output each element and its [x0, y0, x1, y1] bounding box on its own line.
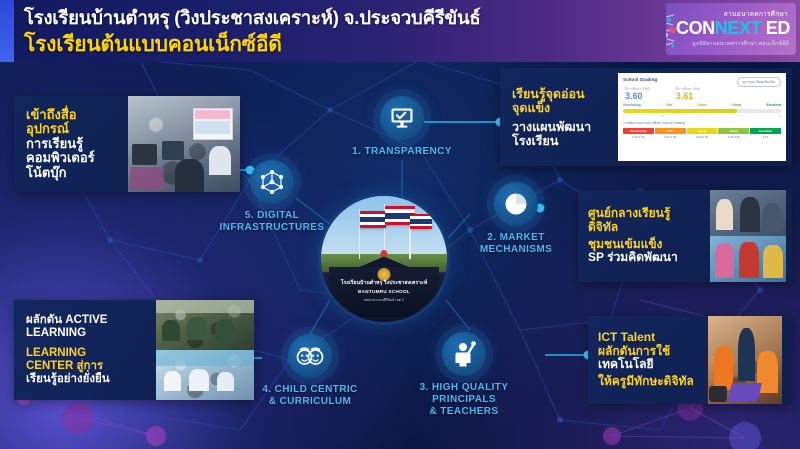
legend-range: 5.00 — [750, 135, 781, 139]
school-grading-dashboard[interactable]: School Grading ดูรายละเอียดเพิ่มเติม ปีก… — [618, 73, 786, 161]
node-bubble[interactable] — [288, 334, 332, 378]
legend-range: 4.00-4.99 — [718, 135, 749, 139]
dashboard-ticks: 1 2 3 4 5 — [623, 114, 781, 118]
node-bubble[interactable] — [250, 160, 294, 204]
card-line-part: ผลักดัน ACTIVE — [26, 314, 107, 326]
scale-label: Good — [698, 103, 707, 107]
card-line: CENTER สู่การ — [26, 360, 148, 373]
dashboard-progress-track — [623, 109, 781, 113]
scale-label: Developing — [623, 103, 641, 107]
legend-range: 3.00-3.99 — [687, 135, 718, 139]
node-label-line: 2. MARKET — [431, 232, 601, 244]
card-line: LEARNING — [26, 327, 148, 340]
node-market-mechanisms[interactable]: 2. MARKET MECHANISMS — [492, 182, 540, 256]
scale-label: Fair — [666, 103, 672, 107]
thai-flag-icon — [410, 214, 432, 229]
card-line-part: ให้ครูมีทักษะดิจิทัล — [598, 374, 694, 388]
card-ict-talent: ICT Talent ผลักดันการใช้ เทคโนโลยี ให้คร… — [588, 316, 792, 404]
legend-item: Good — [687, 128, 718, 134]
emblem-finial — [381, 250, 388, 257]
two-children-icon — [296, 346, 324, 366]
card-line: ให้ครูมีทักษะดิจิทัล — [598, 375, 700, 388]
legend-range: 2.00-2.99 — [655, 135, 686, 139]
node-high-quality-principals[interactable]: 3. HIGH QUALITY PRINCIPALS & TEACHERS — [440, 332, 488, 417]
score-value: 3.60 — [625, 92, 650, 101]
tick: 4 — [740, 114, 742, 118]
card-line: วางแผนพัฒนา — [512, 120, 610, 134]
card-line: ผลักดัน ACTIVE — [26, 314, 148, 327]
card-line: โน้ตบุ๊ก — [26, 166, 120, 181]
tick: 2 — [662, 114, 664, 118]
dashboard-legend: Developing Fair Good Great Excellent — [623, 128, 781, 134]
thai-flag-icon — [360, 211, 386, 228]
dashboard-score-current: ปีการศึกษา 2564 3.61 — [676, 87, 701, 101]
card-digital-access-text: เข้าถึงสื่อ อุปกรณ์ การเรียนรู้ คอมพิวเต… — [14, 96, 128, 192]
logo-word-con: CON — [676, 18, 715, 38]
emblem-school-name-th: โรงเรียนบ้านตำหรุ วิงประชาสงเคราะห์ — [321, 279, 447, 287]
legend-item: Developing — [623, 128, 654, 134]
page-subtitle: โรงเรียนต้นแบบคอนเน็กซ์อีดี — [24, 28, 282, 61]
dashboard-progress-fill — [623, 109, 737, 113]
tick: 5 — [779, 114, 781, 118]
teacher-icon — [452, 341, 476, 367]
card-line: การเรียนรู้ — [26, 137, 120, 152]
card-line: LEARNING — [26, 347, 148, 360]
card-ict-talent-photo — [708, 316, 782, 404]
card-active-learning-photo — [156, 300, 254, 400]
dashboard-legend-ranges: 0.00-1.99 2.00-2.99 3.00-3.99 4.00-4.99 … — [623, 135, 781, 139]
legend-item: Fair — [655, 128, 686, 134]
node-label-line: MECHANISMS — [431, 244, 601, 256]
card-digital-hub-photo — [710, 190, 786, 282]
node-digital-infrastructures[interactable]: 5. DIGITAL INFRASTRUCTURES — [248, 160, 296, 234]
dashboard-scale-labels: Developing Fair Good Great Excellent — [623, 103, 781, 107]
card-line-part: ผลักดันการใช้ — [598, 344, 670, 358]
node-transparency-label: 1. TRANSPARENCY — [302, 146, 502, 158]
card-digital-hub: ศูนย์กลางเรียนรู้ ดิจิทัล ชุมชนเข้มแข็ง … — [578, 190, 792, 282]
dashboard-score-prev: ปีการศึกษา 2563 3.60 — [625, 87, 650, 101]
card-line: ผลักดันการใช้ — [598, 345, 700, 358]
logo-word-next: NEXT — [715, 18, 761, 38]
tick: 1 — [623, 114, 625, 118]
logo-wordmark: CONNEXT ED — [676, 18, 790, 39]
monitor-check-icon — [390, 107, 414, 129]
scale-label: Excellent — [767, 103, 781, 107]
card-line: ICT Talent — [598, 331, 700, 344]
card-line: ชุมชนเข้มแข็ง — [588, 238, 702, 251]
dashboard-note: การพัฒนาคุณภาพการศึกษา School Grading — [623, 121, 781, 126]
dashboard-detail-button[interactable]: ดูรายละเอียดเพิ่มเติม — [737, 77, 781, 87]
card-line: เข้าถึงสื่อ — [26, 108, 120, 123]
node-market-mechanisms-label: 2. MARKET MECHANISMS — [431, 232, 601, 256]
logo-subtext: มูลนิธิสานอนาคตการศึกษา คอนเน็กซ์อีดี — [692, 40, 789, 48]
card-active-learning: ผลักดัน ACTIVE LEARNING LEARNING CENTER … — [14, 300, 254, 400]
card-digital-hub-text: ศูนย์กลางเรียนรู้ ดิจิทัล ชุมชนเข้มแข็ง … — [578, 190, 710, 282]
card-school-grading: เรียนรู้จุดอ่อน จุดแข็ง วางแผนพัฒนา โรงเ… — [500, 68, 792, 166]
card-line: เรียนรู้จุดอ่อน — [512, 87, 610, 101]
connext-ed-logo: สานอนาคตการศึกษา CONNEXT ED มูลนิธิสานอน… — [666, 3, 796, 55]
card-line: คอมพิวเตอร์ — [26, 151, 120, 166]
network-nodes-icon — [259, 169, 285, 195]
legend-item: Great — [718, 128, 749, 134]
card-active-learning-text: ผลักดัน ACTIVE LEARNING LEARNING CENTER … — [14, 300, 156, 400]
card-line: เทคโนโลยี — [598, 358, 700, 371]
card-line: SP ร่วมคิดพัฒนา — [588, 251, 702, 264]
node-transparency[interactable]: 1. TRANSPARENCY — [378, 96, 426, 158]
emblem-school-name-en: BANTUMRU SCHOOL — [321, 289, 447, 294]
node-bubble[interactable] — [494, 182, 538, 226]
card-line: เรียนรู้อย่างยั่งยืน — [26, 373, 148, 386]
card-line: ดิจิทัล — [588, 221, 702, 234]
card-digital-access: เข้าถึงสื่อ อุปกรณ์ การเรียนรู้ คอมพิวเต… — [14, 96, 240, 192]
node-bubble[interactable] — [380, 96, 424, 140]
logo-word-ed: ED — [761, 18, 790, 38]
card-line: โรงเรียน — [512, 134, 610, 148]
node-child-centric[interactable]: 4. CHILD CENTRIC & CURRICULUM — [286, 334, 334, 408]
legend-range: 0.00-1.99 — [623, 135, 654, 139]
legend-item: Excellent — [750, 128, 781, 134]
school-emblem: โรงเรียนบ้านตำหรุ วิงประชาสงเคราะห์ BANT… — [321, 196, 447, 322]
node-bubble[interactable] — [442, 332, 486, 376]
score-value: 3.61 — [676, 92, 701, 101]
card-school-grading-text: เรียนรู้จุดอ่อน จุดแข็ง วางแผนพัฒนา โรงเ… — [500, 68, 618, 166]
card-ict-talent-text: ICT Talent ผลักดันการใช้ เทคโนโลยี ให้คร… — [588, 316, 708, 404]
scale-label: Great — [732, 103, 741, 107]
header-accent-bar — [0, 0, 14, 62]
card-line: ศูนย์กลางเรียนรู้ — [588, 207, 702, 220]
emblem-school-sub: สพป.ประจวบคีรีขันธ์ เขต 2 — [321, 298, 447, 303]
card-digital-access-photo — [128, 96, 240, 192]
card-line: จุดแข็ง — [512, 101, 610, 115]
card-line: อุปกรณ์ — [26, 122, 120, 137]
tick: 3 — [701, 114, 703, 118]
pie-chart-icon — [504, 192, 528, 216]
infographic-poster: โรงเรียนบ้านตำหรุ (วิงประชาสงเคราะห์) จ.… — [0, 0, 800, 449]
